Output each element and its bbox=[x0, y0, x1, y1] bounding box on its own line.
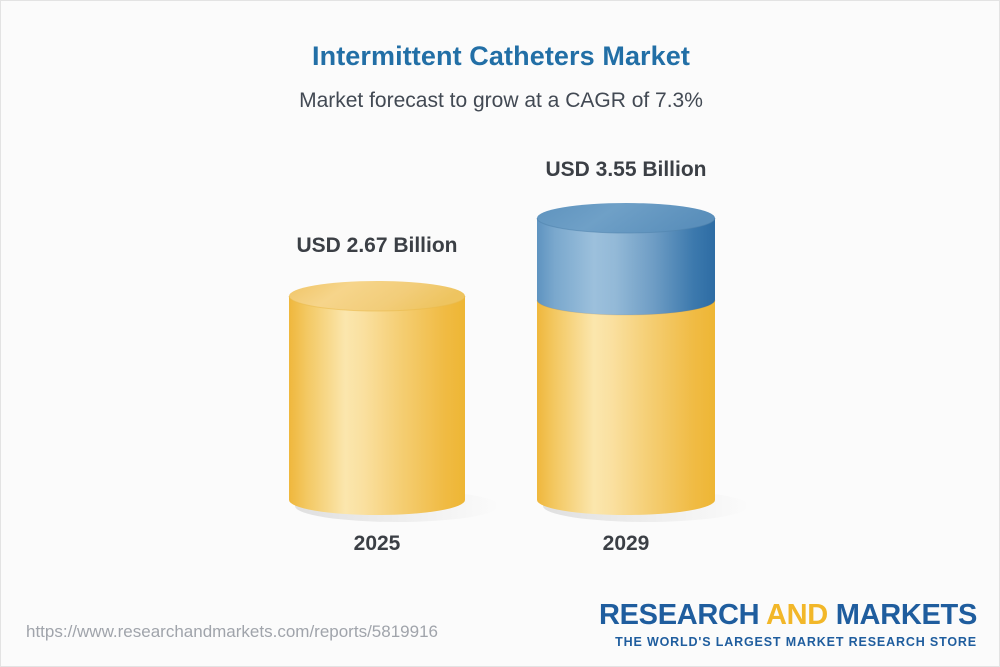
category-label-2029: 2029 bbox=[486, 532, 766, 556]
bar-2029-body-yellow bbox=[537, 300, 715, 515]
report-url[interactable]: https://www.researchandmarkets.com/repor… bbox=[26, 622, 438, 642]
cylinder-chart-plot bbox=[1, 1, 1000, 667]
value-label-2025: USD 2.67 Billion bbox=[237, 234, 517, 258]
logo-word-and: AND bbox=[766, 599, 828, 631]
logo-tagline: THE WORLD'S LARGEST MARKET RESEARCH STOR… bbox=[599, 635, 977, 649]
value-label-2029: USD 3.55 Billion bbox=[486, 158, 766, 182]
logo-word-markets: MARKETS bbox=[836, 599, 977, 631]
research-and-markets-logo[interactable]: RESEARCH AND MARKETS THE WORLD'S LARGEST… bbox=[599, 601, 977, 649]
logo-word-research: RESEARCH bbox=[599, 599, 759, 631]
logo-wordmark: RESEARCH AND MARKETS bbox=[599, 601, 977, 630]
bar-2029 bbox=[537, 203, 715, 515]
bar-2025-body bbox=[289, 296, 465, 515]
category-label-2025: 2025 bbox=[237, 532, 517, 556]
chart-canvas: Intermittent Catheters Market Market for… bbox=[0, 0, 1000, 667]
bar-2025 bbox=[289, 281, 465, 515]
